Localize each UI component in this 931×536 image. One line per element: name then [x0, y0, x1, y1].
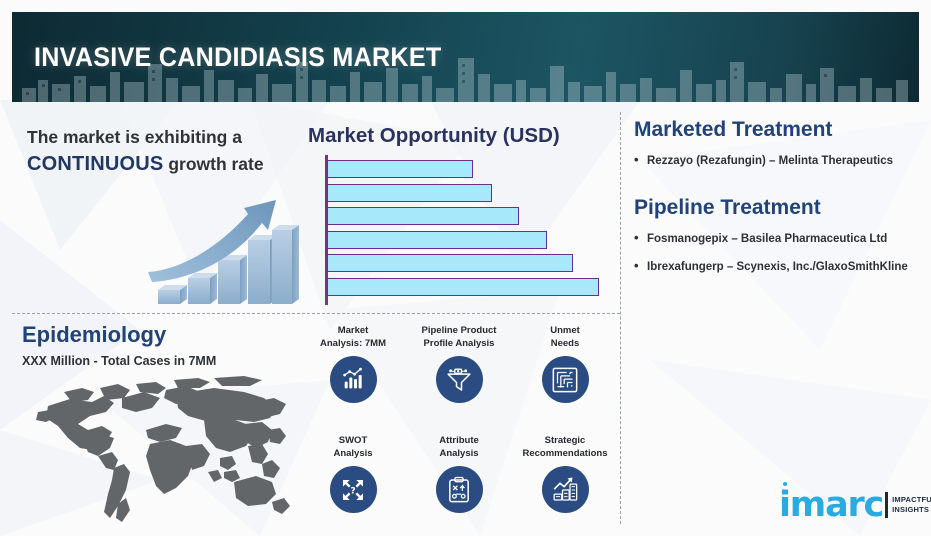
chart-bar	[327, 254, 573, 272]
epidemiology-subtitle: XXX Million - Total Cases in 7MM	[22, 354, 216, 368]
funnel-filter-icon	[436, 356, 483, 403]
growth-chart-arrow-icon	[542, 466, 589, 513]
vertical-dashed-divider	[620, 112, 621, 524]
pipeline-treatment-heading: Pipeline Treatment	[634, 196, 920, 220]
growth-statement: The market is exhibiting a CONTINUOUS gr…	[27, 124, 277, 178]
icon-cell-bar-chart-trend[interactable]: MarketAnalysis: 7MM	[300, 324, 406, 403]
infographic-page: INVASIVE CANDIDIASIS MARKET The market i…	[0, 0, 931, 536]
logo-dot-icon	[783, 482, 787, 486]
horizontal-dashed-divider	[12, 313, 620, 314]
analysis-icon-grid: MarketAnalysis: 7MMPipeline ProductProfi…	[300, 324, 618, 529]
logo-tagline-line1: IMPACTFUL	[892, 495, 931, 505]
list-item: Fosmanogepix – Basilea Pharmaceutica Ltd	[634, 230, 920, 248]
bar-chart-trend-icon	[330, 356, 377, 403]
icon-label: Pipeline ProductProfile Analysis	[406, 324, 512, 350]
chart-bar	[327, 207, 519, 225]
icon-label: MarketAnalysis: 7MM	[300, 324, 406, 350]
market-opportunity-chart	[308, 155, 608, 307]
growth-statement-part1: The market is exhibiting a	[27, 127, 242, 147]
growth-chart-illustration	[140, 190, 300, 308]
svg-text:?: ?	[350, 485, 355, 496]
pipeline-treatment-list: Fosmanogepix – Basilea Pharmaceutica Ltd…	[634, 230, 920, 276]
chart-bar	[327, 184, 492, 202]
growth-statement-highlight: CONTINUOUS	[27, 153, 163, 175]
header-banner: INVASIVE CANDIDIASIS MARKET	[12, 12, 919, 102]
chart-bar	[327, 160, 473, 178]
treatments-column: Marketed Treatment Rezzayo (Rezafungin) …	[634, 118, 920, 286]
icon-cell-growth-chart-arrow[interactable]: StrategicRecommendations	[512, 434, 618, 513]
maze-icon	[542, 356, 589, 403]
epidemiology-block: Epidemiology XXX Million - Total Cases i…	[22, 322, 216, 368]
list-item: Rezzayo (Rezafungin) – Melinta Therapeut…	[634, 152, 920, 170]
icon-cell-maze[interactable]: UnmetNeeds	[512, 324, 618, 403]
icon-label: UnmetNeeds	[512, 324, 618, 350]
icon-label: AttributeAnalysis	[406, 434, 512, 460]
chart-bars	[327, 160, 599, 301]
page-title: INVASIVE CANDIDIASIS MARKET	[34, 42, 441, 73]
world-map-icon	[18, 372, 308, 530]
icon-cell-clipboard-strategy[interactable]: AttributeAnalysis	[406, 434, 512, 513]
icon-cell-funnel-filter[interactable]: Pipeline ProductProfile Analysis	[406, 324, 512, 403]
list-item: Ibrexafungerp – Scynexis, Inc./GlaxoSmit…	[634, 258, 920, 276]
logo-wordmark: imarc	[779, 488, 883, 522]
logo-tagline-line2: INSIGHTS	[892, 505, 931, 515]
logo-tagline: IMPACTFUL INSIGHTS	[892, 495, 931, 515]
swot-arrows-question-icon: ?	[330, 466, 377, 513]
icon-label: SWOTAnalysis	[300, 434, 406, 460]
chart-bar	[327, 231, 547, 249]
growth-statement-part2: growth rate	[163, 154, 263, 174]
chart-title: Market Opportunity (USD)	[308, 124, 560, 148]
icon-label: StrategicRecommendations	[512, 434, 618, 460]
logo-mark-text: imarc	[779, 485, 883, 525]
imarc-logo[interactable]: imarc IMPACTFUL INSIGHTS	[779, 488, 931, 522]
icon-cell-swot-arrows-question[interactable]: SWOTAnalysis?	[300, 434, 406, 513]
marketed-treatment-heading: Marketed Treatment	[634, 118, 920, 142]
chart-bar	[327, 278, 599, 296]
marketed-treatment-list: Rezzayo (Rezafungin) – Melinta Therapeut…	[634, 152, 920, 170]
clipboard-strategy-icon	[436, 466, 483, 513]
logo-divider-bar	[885, 492, 888, 518]
epidemiology-title: Epidemiology	[22, 322, 216, 348]
